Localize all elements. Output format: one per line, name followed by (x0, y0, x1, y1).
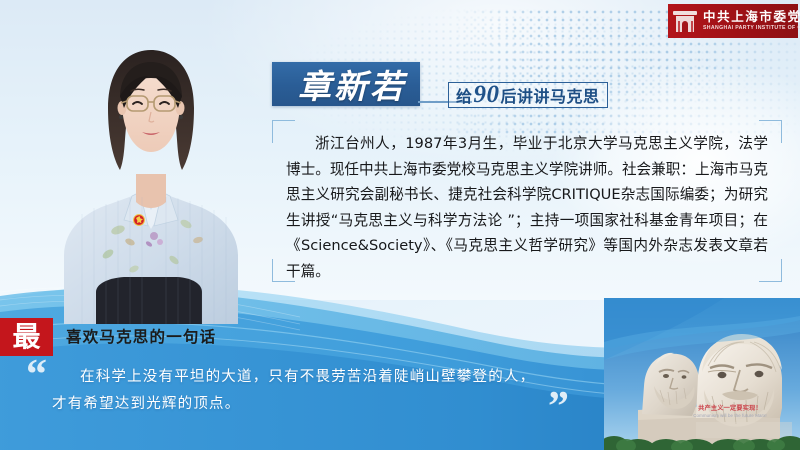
biography-text: 浙江台州人，1987年3月生，毕业于北京大学马克思主义学院，法学博士。现任中共上… (286, 131, 768, 284)
monument-caption-en: Communism will be the future Marx! (676, 413, 784, 420)
institute-logo-bar: 中共上海市委党校 SHANGHAI PARTY INSTITUTE OF CCP (668, 4, 798, 38)
close-quotation-mark-icon: ” (548, 386, 569, 428)
subtitle-number: 90 (474, 84, 500, 107)
speaker-name: 章新若 (274, 58, 430, 110)
lecture-subtitle-box: 给 90 后讲讲马克思 (448, 82, 608, 108)
favorite-quote-badge-char: 最 (12, 323, 40, 351)
marx-engels-monument-photo (604, 298, 800, 450)
biography-panel: 浙江台州人，1987年3月生，毕业于北京大学马克思主义学院，法学博士。现任中共上… (272, 120, 782, 282)
institute-name-en: SHANGHAI PARTY INSTITUTE OF CCP (703, 26, 800, 31)
subtitle-prefix: 给 (456, 83, 473, 107)
monument-caption-cn: 共产主义一定要实现！ (676, 404, 784, 413)
favorite-quote-text: 在科学上没有平坦的大道，只有不畏劳苦沿着陡峭山壁攀登的人，才有希望达到光辉的顶点… (52, 364, 542, 418)
favorite-quote-badge: 最 (0, 318, 53, 356)
slide-root: 中共上海市委党校 SHANGHAI PARTY INSTITUTE OF CCP (0, 0, 800, 450)
favorite-quote-heading: 喜欢马克思的一句话 (66, 325, 216, 347)
speaker-portrait-photo (36, 24, 266, 324)
gate-archway-icon (672, 8, 698, 35)
institute-name-cn: 中共上海市委党校 (703, 11, 800, 24)
subtitle-suffix: 后讲讲马克思 (501, 83, 600, 107)
open-quotation-mark-icon: “ (26, 354, 47, 396)
monument-caption: 共产主义一定要实现！ Communism will be the future … (676, 404, 784, 420)
